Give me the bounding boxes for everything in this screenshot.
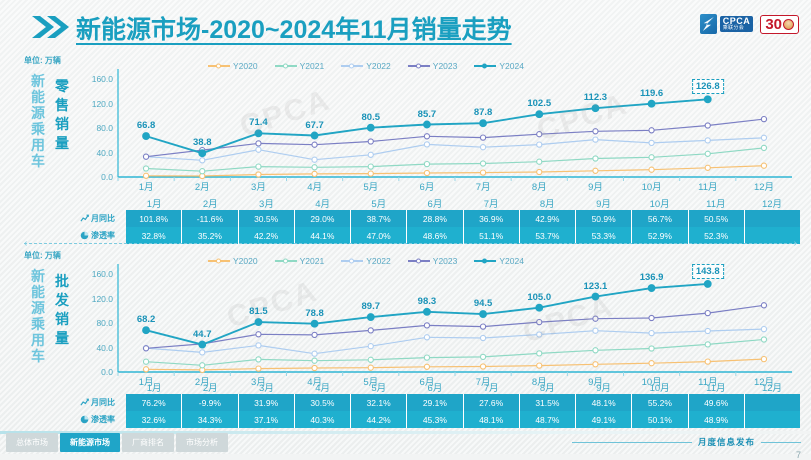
wholesale-vertical-label-metric: 批发销量 [54,272,70,348]
legend-label: Y2020 [233,256,258,266]
wholesale-unit-label: 单位: 万辆 [24,250,61,261]
wholesale-row-penetration-label: 渗透率 [78,411,126,428]
table-cell: 32.6% [126,411,182,428]
legend-marker [416,64,421,69]
legend-item-Y2023[interactable]: Y2023 [408,256,458,266]
data-label: 143.8 [692,264,724,279]
table-column-header: 2月 [182,379,238,394]
table-column-header: 9月 [575,379,631,394]
legend-marker [216,259,221,264]
data-point-Y2024 [311,320,318,327]
data-point-Y2023 [593,316,598,321]
table-column-header: 4月 [295,379,351,394]
data-point-Y2020 [761,357,766,362]
series-line-Y2020 [146,166,764,176]
data-point-Y2021 [761,145,766,150]
wholesale-y-axis: 160.0120.080.040.00.0 [78,274,116,372]
data-point-Y2021 [537,351,542,356]
table-column-header: 5月 [351,379,407,394]
table-cell: 48.1% [464,411,520,428]
data-point-Y2022 [705,138,710,143]
table-cell: 101.8% [126,210,182,227]
data-point-Y2020 [705,165,710,170]
data-point-Y2020 [537,363,542,368]
data-label: 81.5 [249,306,268,317]
legend-swatch [208,65,230,67]
wholesale-table-header-row: 1月2月3月4月5月6月7月8月9月10月11月12月 [78,379,800,394]
table-cell: 31.9% [239,394,295,411]
data-point-Y2022 [537,332,542,337]
data-label: 102.5 [527,98,551,109]
legend-item-Y2021[interactable]: Y2021 [275,256,325,266]
data-point-Y2020 [143,173,148,178]
legend-marker [283,259,288,264]
retail-y-axis: 160.0120.080.040.00.0 [78,79,116,177]
legend-item-Y2024[interactable]: Y2024 [474,61,524,71]
wholesale-row-yoy-text: 月同比 [91,397,115,408]
data-point-Y2024 [367,314,374,321]
data-label: 71.4 [249,117,268,128]
wholesale-header-spacer [78,379,126,394]
wholesale-legend: Y2020Y2021Y2022Y2023Y2024 [208,254,668,268]
data-point-Y2023 [143,154,148,159]
data-point-Y2021 [593,156,598,161]
retail-row-yoy-label: 月同比 [78,210,126,227]
y-axis-tick: 0.0 [101,172,113,182]
table-column-header: 7月 [463,379,519,394]
table-cell: 50.1% [632,411,688,428]
footer-rule-right [761,442,801,443]
data-point-Y2024 [143,133,150,140]
retail-row-yoy: 月同比 101.8%-11.6%30.5%29.0%38.7%28.8%36.9… [78,210,800,227]
table-cell: 29.1% [407,394,463,411]
y-axis-tick: 80.0 [96,123,113,133]
data-point-Y2021 [480,354,485,359]
wholesale-row-yoy-label: 月同比 [78,394,126,411]
data-point-Y2022 [256,343,261,348]
legend-swatch [208,260,230,262]
wholesale-table: 1月2月3月4月5月6月7月8月9月10月11月12月 月同比 76.2%-9.… [78,379,800,428]
data-label: 105.0 [527,292,551,303]
table-cell: 50.5% [689,210,745,227]
data-point-Y2023 [143,346,148,351]
footer-tab-市场分析[interactable]: 市场分析 [176,433,228,452]
data-point-Y2022 [480,335,485,340]
table-column-header: 6月 [407,379,463,394]
table-column-header: 10月 [632,195,688,210]
footer-publisher-group: 月度信息发布 [572,436,801,448]
table-column-header: 3月 [238,379,294,394]
data-point-Y2022 [256,147,261,152]
data-point-Y2022 [200,350,205,355]
data-point-Y2022 [480,145,485,150]
divider-right-arrow-icon: › [794,239,797,249]
data-point-Y2023 [312,142,317,147]
data-label: 85.7 [418,109,437,120]
retail-row-yoy-text: 月同比 [91,213,115,224]
table-column-header: 8月 [519,379,575,394]
legend-marker [349,259,354,264]
data-point-Y2022 [200,158,205,163]
data-point-Y2023 [312,332,317,337]
table-cell: 53.7% [520,227,576,244]
data-label: 94.5 [474,298,493,309]
table-cell: 34.3% [182,411,238,428]
wholesale-plot-area: CPCA CPCA 68.244.781.578.889.798.394.510… [118,274,792,372]
legend-marker [283,64,288,69]
table-cell: 36.9% [464,210,520,227]
data-point-Y2021 [200,169,205,174]
data-point-Y2022 [761,135,766,140]
retail-plot-area: CPCA CPCA 66.838.871.467.780.585.787.810… [118,79,792,177]
series-line-Y2022 [146,329,764,354]
data-point-Y2020 [368,171,373,176]
legend-label: Y2023 [433,61,458,71]
retail-table: 1月2月3月4月5月6月7月8月9月10月11月12月 月同比 101.8%-1… [78,195,800,244]
data-point-Y2021 [143,359,148,364]
data-point-Y2020 [537,169,542,174]
data-point-Y2021 [368,164,373,169]
data-point-Y2020 [705,359,710,364]
table-cell: 44.1% [295,227,351,244]
retail-header-spacer [78,195,126,210]
y-axis-tick: 160.0 [92,74,113,84]
data-point-Y2021 [761,337,766,342]
cpca-logo-subtext: 乘联分会 [723,26,751,31]
data-point-Y2020 [312,171,317,176]
table-cell: 31.5% [520,394,576,411]
data-point-Y2020 [256,366,261,371]
legend-swatch [474,260,496,262]
table-column-header: 2月 [182,195,238,210]
data-point-Y2021 [312,165,317,170]
footer-tab-厂商排名[interactable]: 厂商排名 [122,433,174,452]
data-point-Y2024 [255,319,262,326]
slide-header: 新能源市场-2020~2024年11月销量走势 CPCA 乘联分会 30 [0,0,811,52]
data-point-Y2024 [592,293,599,300]
y-axis-tick: 160.0 [92,269,113,279]
wholesale-chart: Y2020Y2021Y2022Y2023Y2024 160.0120.080.0… [78,264,800,394]
legend-item-Y2023[interactable]: Y2023 [408,61,458,71]
legend-swatch [275,260,297,262]
table-column-header: 11月 [688,195,744,210]
data-label: 112.3 [584,92,607,103]
table-cell: 49.1% [576,411,632,428]
legend-label: Y2024 [499,61,524,71]
retail-vertical-label-category: 新能源乘用车 [30,73,46,169]
data-label: 123.1 [584,281,608,292]
retail-row-penetration: 渗透率 32.8%35.2%42.2%44.1%47.0%48.6%51.1%5… [78,227,800,244]
table-cell: 32.8% [126,227,182,244]
data-point-Y2021 [649,155,654,160]
footer-tabs: 总体市场新能源市场厂商排名市场分析 [6,433,230,452]
legend-swatch [408,65,430,67]
data-label: 136.9 [640,272,664,283]
data-label: 80.5 [362,112,381,123]
data-point-Y2021 [368,357,373,362]
footer-tab-总体市场[interactable]: 总体市场 [6,433,58,452]
data-point-Y2022 [368,344,373,349]
legend-item-Y2022[interactable]: Y2022 [341,256,391,266]
data-point-Y2022 [312,351,317,356]
data-point-Y2023 [649,315,654,320]
table-cell: 50.9% [576,210,632,227]
legend-item-Y2020[interactable]: Y2020 [208,256,258,266]
legend-swatch [474,65,496,67]
data-label: 89.7 [362,301,381,312]
table-column-header: 5月 [351,195,407,210]
table-cell: 29.0% [295,210,351,227]
table-cell: -11.6% [182,210,238,227]
legend-item-Y2022[interactable]: Y2022 [341,61,391,71]
y-axis-tick: 120.0 [92,294,113,304]
data-point-Y2024 [648,285,655,292]
legend-swatch [275,65,297,67]
table-cell: 76.2% [126,394,182,411]
legend-marker [216,64,221,69]
footer-tab-新能源市场[interactable]: 新能源市场 [60,433,120,452]
legend-swatch [341,65,363,67]
data-point-Y2020 [649,361,654,366]
data-point-Y2021 [705,151,710,156]
data-point-Y2021 [424,162,429,167]
data-point-Y2020 [480,364,485,369]
data-point-Y2023 [761,117,766,122]
data-point-Y2021 [537,159,542,164]
page-title: 新能源市场-2020~2024年11月销量走势 [76,10,512,46]
table-column-header: 3月 [238,195,294,210]
table-cell: 48.6% [407,227,463,244]
series-line-Y2021 [146,340,764,366]
legend-label: Y2022 [366,256,391,266]
y-axis-tick: 40.0 [96,343,113,353]
data-point-Y2020 [761,163,766,168]
data-point-Y2020 [480,170,485,175]
logo-group: CPCA 乘联分会 30 [700,10,799,38]
y-axis-tick: 120.0 [92,99,113,109]
table-cell: 42.2% [239,227,295,244]
wholesale-row-penetration-cells: 32.6%34.3%37.1%40.3%44.2%45.3%48.1%48.7%… [126,411,800,428]
table-cell: 47.0% [351,227,407,244]
legend-item-Y2020[interactable]: Y2020 [208,61,258,71]
pie-chart-icon [80,415,89,424]
legend-item-Y2021[interactable]: Y2021 [275,61,325,71]
wholesale-row-yoy: 月同比 76.2%-9.9%31.9%30.5%32.1%29.1%27.6%3… [78,394,800,411]
wholesale-lines-svg [118,274,792,372]
table-cell: 37.1% [239,411,295,428]
data-point-Y2022 [537,142,542,147]
retail-row-penetration-label: 渗透率 [78,227,126,244]
data-point-Y2020 [312,365,317,370]
data-point-Y2023 [649,128,654,133]
data-point-Y2022 [593,328,598,333]
retail-table-header-row: 1月2月3月4月5月6月7月8月9月10月11月12月 [78,195,800,210]
data-label: 68.2 [137,314,156,325]
data-point-Y2024 [199,150,206,157]
retail-chart: Y2020Y2021Y2022Y2023Y2024 160.0120.080.0… [78,69,800,199]
table-cell: 48.1% [576,394,632,411]
footer-publisher: 月度信息发布 [698,436,755,448]
table-cell: 27.6% [464,394,520,411]
table-cell: 35.2% [182,227,238,244]
table-column-header: 4月 [295,195,351,210]
data-point-Y2023 [368,328,373,333]
table-cell: 55.2% [632,394,688,411]
table-cell: 53.3% [576,227,632,244]
data-point-Y2024 [480,120,487,127]
double-chevron-icon [30,14,70,40]
data-point-Y2020 [256,172,261,177]
legend-label: Y2024 [499,256,524,266]
data-point-Y2024 [536,304,543,311]
table-cell: 56.7% [632,210,688,227]
data-point-Y2024 [199,341,206,348]
y-axis-tick: 80.0 [96,318,113,328]
table-cell: 40.3% [295,411,351,428]
data-point-Y2024 [424,308,431,315]
footer-rule-left [572,442,692,443]
data-point-Y2024 [367,124,374,131]
data-point-Y2021 [480,161,485,166]
series-line-Y2021 [146,148,764,171]
data-point-Y2021 [256,164,261,169]
data-point-Y2020 [649,167,654,172]
data-point-Y2020 [593,168,598,173]
divider-left-arrow-icon: ‹ [24,239,27,249]
section-divider: ‹ › [24,243,797,244]
data-label: 119.6 [640,88,663,99]
data-point-Y2024 [424,121,431,128]
retail-header-cells: 1月2月3月4月5月6月7月8月9月10月11月12月 [126,195,800,210]
retail-vertical-label-metric: 零售销量 [54,77,70,153]
legend-item-Y2024[interactable]: Y2024 [474,256,524,266]
table-cell [745,411,800,428]
data-point-Y2020 [424,364,429,369]
data-point-Y2021 [649,346,654,351]
data-point-Y2023 [480,324,485,329]
data-point-Y2023 [593,129,598,134]
anniversary-30-logo-icon: 30 [760,15,799,34]
data-point-Y2021 [593,348,598,353]
data-point-Y2024 [592,105,599,112]
data-point-Y2024 [704,96,711,103]
table-cell: 30.5% [295,394,351,411]
data-point-Y2020 [143,367,148,372]
data-point-Y2022 [649,331,654,336]
table-column-header: 11月 [688,379,744,394]
data-point-Y2022 [705,328,710,333]
table-cell: 38.7% [351,210,407,227]
table-column-header: 8月 [519,195,575,210]
retail-row-penetration-cells: 32.8%35.2%42.2%44.1%47.0%48.6%51.1%53.7%… [126,227,800,244]
legend-label: Y2020 [233,61,258,71]
data-point-Y2022 [761,327,766,332]
slide-footer: 总体市场新能源市场厂商排名市场分析 月度信息发布 7 [0,428,811,454]
table-cell: -9.9% [182,394,238,411]
data-point-Y2024 [704,281,711,288]
data-point-Y2023 [424,323,429,328]
table-cell: 49.6% [689,394,745,411]
table-cell: 48.9% [689,411,745,428]
data-point-Y2023 [480,135,485,140]
data-point-Y2021 [312,358,317,363]
data-point-Y2023 [705,123,710,128]
wholesale-row-penetration: 渗透率 32.6%34.3%37.1%40.3%44.2%45.3%48.1%4… [78,411,800,428]
anniversary-number: 30 [765,17,782,32]
data-point-Y2020 [424,170,429,175]
legend-swatch [408,260,430,262]
cpca-logo-icon: CPCA 乘联分会 [700,14,754,34]
table-column-header: 12月 [744,195,800,210]
data-point-Y2021 [143,166,148,171]
table-cell: 52.9% [632,227,688,244]
data-point-Y2022 [424,335,429,340]
data-point-Y2023 [256,141,261,146]
table-cell: 42.9% [520,210,576,227]
legend-marker [416,259,421,264]
wholesale-header-cells: 1月2月3月4月5月6月7月8月9月10月11月12月 [126,379,800,394]
data-point-Y2024 [648,100,655,107]
data-point-Y2023 [537,132,542,137]
series-line-Y2020 [146,359,764,370]
data-point-Y2022 [649,140,654,145]
wholesale-row-yoy-cells: 76.2%-9.9%31.9%30.5%32.1%29.1%27.6%31.5%… [126,394,800,411]
retail-row-penetration-text: 渗透率 [91,230,115,241]
table-cell: 30.5% [239,210,295,227]
line-chart-icon [80,214,89,223]
data-point-Y2021 [200,363,205,368]
data-point-Y2023 [256,332,261,337]
data-point-Y2023 [537,320,542,325]
data-label: 126.8 [692,79,724,94]
legend-marker [349,64,354,69]
table-cell: 51.1% [464,227,520,244]
data-point-Y2022 [424,142,429,147]
pie-chart-icon [80,231,89,240]
table-cell: 28.8% [407,210,463,227]
legend-label: Y2021 [300,61,325,71]
data-point-Y2023 [424,134,429,139]
table-column-header: 1月 [126,195,182,210]
y-axis-tick: 0.0 [101,367,113,377]
data-point-Y2024 [536,111,543,118]
series-line-Y2023 [146,305,764,348]
slide: 新能源市场-2020~2024年11月销量走势 CPCA 乘联分会 30 单位:… [0,0,811,454]
data-point-Y2022 [593,137,598,142]
table-cell [745,394,800,411]
table-column-header: 7月 [463,195,519,210]
data-label: 66.8 [137,120,156,131]
data-point-Y2024 [143,327,150,334]
data-point-Y2020 [368,365,373,370]
table-cell: 52.3% [689,227,745,244]
data-point-Y2023 [368,139,373,144]
table-cell: 44.2% [351,411,407,428]
table-cell: 32.1% [351,394,407,411]
data-point-Y2021 [705,342,710,347]
data-point-Y2023 [761,303,766,308]
data-point-Y2022 [368,152,373,157]
table-column-header: 1月 [126,379,182,394]
retail-legend: Y2020Y2021Y2022Y2023Y2024 [208,59,668,73]
retail-unit-label: 单位: 万辆 [24,55,61,66]
legend-swatch [341,260,363,262]
legend-marker [482,64,487,69]
table-cell: 48.7% [520,411,576,428]
table-cell [745,227,800,244]
data-point-Y2021 [256,357,261,362]
data-point-Y2024 [311,132,318,139]
